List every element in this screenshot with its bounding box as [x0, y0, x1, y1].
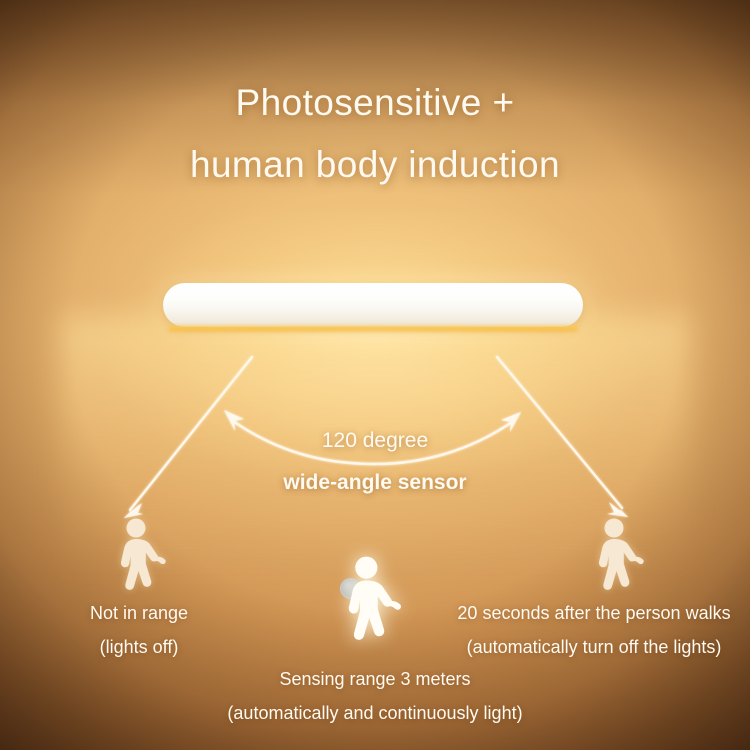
- caption-after-leaving-line-2: (automatically turn off the lights): [440, 630, 748, 664]
- caption-after-leaving: 20 seconds after the person walks (autom…: [440, 596, 748, 664]
- caption-in-range: Sensing range 3 meters (automatically an…: [0, 662, 750, 730]
- pedestrian-icon-out-of-range: [112, 518, 168, 607]
- pedestrian-icon-in-range: [338, 556, 404, 659]
- sensor-angle-line-2: wide-angle sensor: [0, 462, 750, 504]
- caption-in-range-line-1: Sensing range 3 meters: [0, 662, 750, 696]
- caption-out-of-range-line-1: Not in range: [24, 596, 254, 630]
- pedestrian-icon-after-leaving: [590, 518, 646, 607]
- product-infographic: Photosensitive + human body induction: [0, 0, 750, 750]
- caption-out-of-range: Not in range (lights off): [24, 596, 254, 664]
- caption-out-of-range-line-2: (lights off): [24, 630, 254, 664]
- caption-in-range-line-2: (automatically and continuously light): [0, 696, 750, 730]
- sensor-angle-label: 120 degree wide-angle sensor: [0, 420, 750, 504]
- caption-after-leaving-line-1: 20 seconds after the person walks: [440, 596, 748, 630]
- sensor-angle-line-1: 120 degree: [0, 420, 750, 462]
